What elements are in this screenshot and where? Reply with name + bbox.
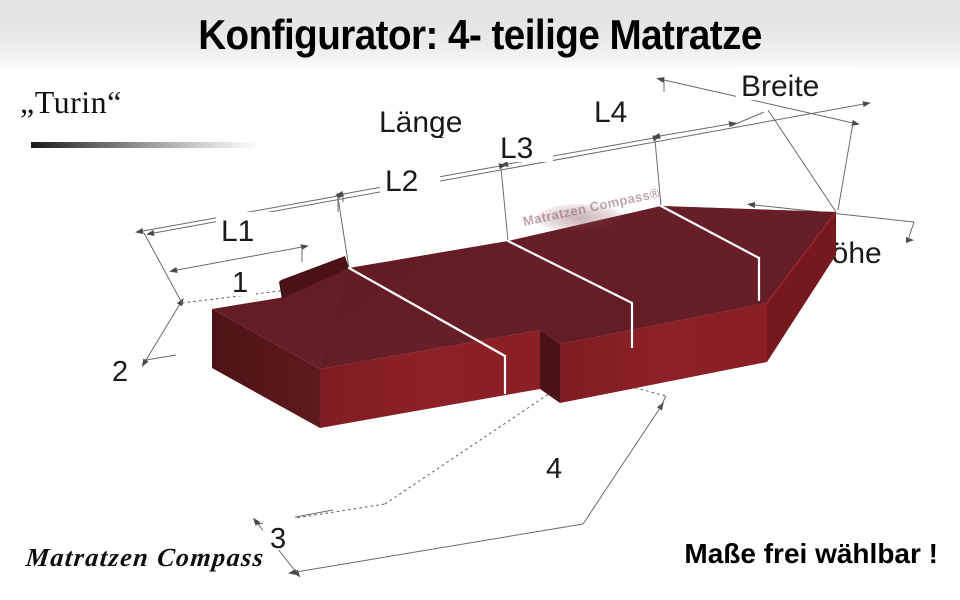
- dimension-label-2: 2: [112, 356, 128, 388]
- mattress-diagram: Länge Länge L1 L2 L3 L4: [0, 0, 960, 600]
- dimension-label-1: 1: [232, 267, 248, 299]
- dimension-label-l4: L4: [594, 96, 627, 129]
- dimension-label-l1: L1: [221, 215, 254, 248]
- dimension-l2: L2: [343, 163, 500, 202]
- dimension-label-breite: Breite: [741, 70, 819, 103]
- dimension-l4: L4: [590, 94, 730, 136]
- dimension-label-4: 4: [546, 453, 562, 485]
- mattress-body: Matratzen Compass®: [212, 185, 836, 428]
- dimension-l1: L1: [143, 196, 338, 248]
- brand-logo: Matratzen Compass: [24, 543, 266, 573]
- dimension-segment-2: 2: [106, 233, 182, 388]
- dimension-breite: Breite: [664, 66, 854, 210]
- dimension-label-3: 3: [270, 523, 286, 555]
- tagline: Maße frei wählbar !: [684, 538, 938, 570]
- dimension-l3: L3: [495, 130, 654, 165]
- dimension-segment-3: 3: [258, 504, 385, 572]
- dimension-label-laenge-text: Länge: [379, 106, 462, 139]
- dimension-label-l2: L2: [385, 165, 418, 198]
- dimension-label-l3: L3: [500, 132, 533, 165]
